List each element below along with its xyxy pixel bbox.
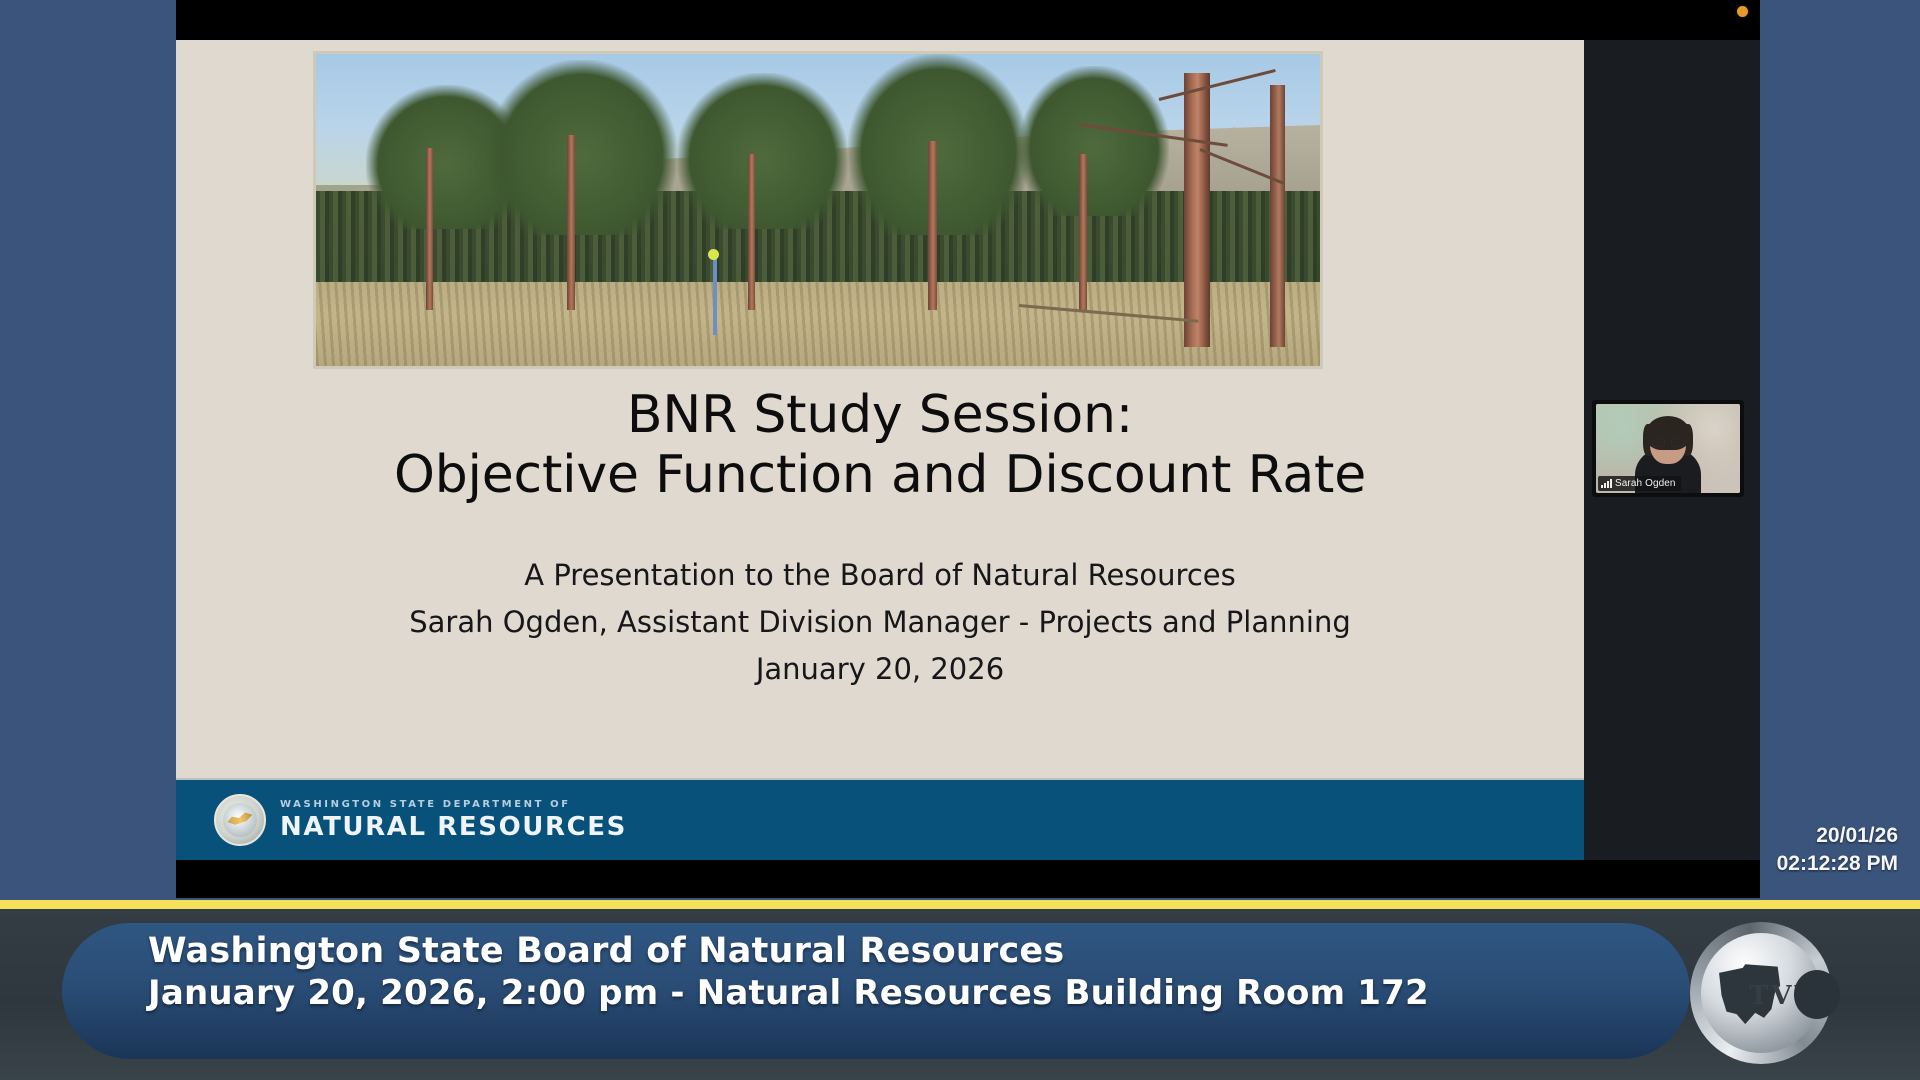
banner-subtitle: January 20, 2026, 2:00 pm - Natural Reso… [148, 973, 1429, 1014]
accent-rule [0, 900, 1920, 909]
participant-video-thumbnail[interactable]: Sarah Ogden [1592, 400, 1744, 497]
survey-marker-flag [708, 249, 719, 260]
presentation-slide: BNR Study Session: Objective Function an… [176, 40, 1584, 860]
tree-trunk [426, 148, 433, 310]
broadcast-timestamp: 20/01/26 02:12:28 PM [1777, 822, 1898, 879]
participant-name-label: Sarah Ogden [1598, 476, 1681, 491]
lower-third-text: Washington State Board of Natural Resour… [148, 930, 1429, 1014]
slide-title-block: BNR Study Session: Objective Function an… [176, 385, 1584, 506]
slide-title-line-1: BNR Study Session: [176, 385, 1584, 445]
broadcast-stage: BNR Study Session: Objective Function an… [0, 0, 1920, 1080]
slide-subtitle-block: A Presentation to the Board of Natural R… [176, 552, 1584, 693]
tvw-logo: TVW [1690, 922, 1832, 1064]
audio-level-icon [1601, 479, 1612, 488]
slide-subtitle-date: January 20, 2026 [176, 646, 1584, 693]
eyeglasses-icon [1652, 438, 1684, 447]
banner-title: Washington State Board of Natural Resour… [148, 930, 1429, 973]
tree-canopy [1019, 66, 1170, 216]
recording-indicator-dot [1737, 6, 1748, 17]
tree-canopy [677, 73, 848, 229]
letterbox-bottom [176, 860, 1760, 898]
tree-trunk [748, 154, 755, 310]
tree-trunk [928, 141, 937, 309]
timestamp-date: 20/01/26 [1777, 822, 1898, 850]
slide-subtitle-presentation: A Presentation to the Board of Natural R… [176, 552, 1584, 599]
tree-trunk-large [1270, 85, 1285, 347]
hero-photo-forest [313, 51, 1323, 369]
tree-trunk [567, 135, 575, 310]
tree-canopy [487, 60, 678, 235]
dnr-agency-large: NATURAL RESOURCES [280, 814, 627, 840]
letterbox-top [176, 0, 1760, 40]
dnr-wordmark: WASHINGTON STATE DEPARTMENT OF NATURAL R… [280, 800, 627, 840]
dnr-seal-icon [214, 794, 266, 846]
participant-name: Sarah Ogden [1615, 478, 1676, 489]
slide-footer-dnr-bar: WASHINGTON STATE DEPARTMENT OF NATURAL R… [176, 778, 1584, 860]
timestamp-time: 02:12:28 PM [1777, 850, 1898, 878]
video-stream[interactable]: BNR Study Session: Objective Function an… [176, 0, 1760, 898]
tree-trunk [1079, 154, 1087, 310]
tvw-logo-notch [1794, 970, 1840, 1018]
slide-subtitle-presenter: Sarah Ogden, Assistant Division Manager … [176, 599, 1584, 646]
dnr-agency-small: WASHINGTON STATE DEPARTMENT OF [280, 800, 627, 810]
tree-canopy [848, 54, 1029, 235]
slide-title-line-2: Objective Function and Discount Rate [176, 445, 1584, 505]
survey-marker-post [713, 254, 717, 335]
tree-trunk-large [1184, 73, 1210, 348]
